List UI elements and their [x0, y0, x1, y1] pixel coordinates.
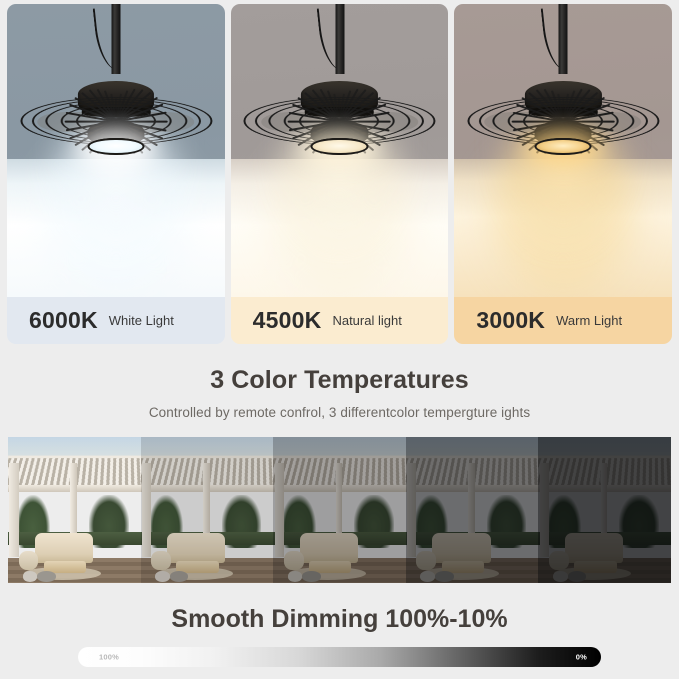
- dim-overlay: [538, 437, 671, 583]
- lit-floor: [454, 159, 672, 297]
- caged-fan-fixture: [467, 63, 659, 180]
- lit-floor: [231, 159, 449, 297]
- kelvin-value: 6000K: [29, 307, 98, 334]
- color-temperature-label-band-4500k: 4500K Natural light: [231, 297, 449, 344]
- light-name: Natural light: [332, 313, 401, 328]
- color-temperature-panel-row: 6000K White Light 4500K Natural light: [7, 4, 672, 344]
- dimming-filmstrip: [8, 437, 671, 583]
- dimming-level-cell: [406, 437, 539, 583]
- led-light-disc: [534, 138, 591, 156]
- caged-fan-fixture: [244, 63, 436, 180]
- fan-photo-6000k: [7, 4, 225, 297]
- dimming-label-min: 0%: [576, 653, 587, 662]
- dim-overlay: [141, 437, 274, 583]
- light-name: White Light: [109, 313, 174, 328]
- color-temperature-panel-4500k: 4500K Natural light: [231, 4, 449, 344]
- gradient-track: [78, 647, 601, 667]
- caged-fan-fixture: [20, 63, 212, 180]
- color-temperature-label-band-6000k: 6000K White Light: [7, 297, 225, 344]
- kelvin-value: 3000K: [476, 307, 545, 334]
- dimming-level-cell: [8, 437, 141, 583]
- dimming-level-cell: [273, 437, 406, 583]
- color-temperature-heading-block: 3 Color Temperatures Controlled by remot…: [0, 366, 679, 420]
- led-light-disc: [311, 138, 368, 156]
- kelvin-value: 4500K: [253, 307, 322, 334]
- dimming-level-cell: [538, 437, 671, 583]
- dimming-label-max: 100%: [99, 653, 119, 662]
- fan-photo-3000k: [454, 4, 672, 297]
- dim-overlay: [273, 437, 406, 583]
- fan-photo-4500k: [231, 4, 449, 297]
- section-title-smooth-dimming: Smooth Dimming 100%-10%: [0, 605, 679, 634]
- dimming-level-cell: [141, 437, 274, 583]
- section-subtitle-color-temperatures: Controlled by remote confrol, 3 differen…: [0, 405, 679, 420]
- dimming-gradient-bar: 100% 0%: [78, 647, 601, 667]
- light-name: Warm Light: [556, 313, 622, 328]
- color-temperature-panel-6000k: 6000K White Light: [7, 4, 225, 344]
- dimming-heading-block: Smooth Dimming 100%-10%: [0, 605, 679, 634]
- section-title-color-temperatures: 3 Color Temperatures: [0, 366, 679, 395]
- led-light-disc: [87, 138, 144, 156]
- color-temperature-label-band-3000k: 3000K Warm Light: [454, 297, 672, 344]
- dim-overlay: [406, 437, 539, 583]
- lit-floor: [7, 159, 225, 297]
- color-temperature-panel-3000k: 3000K Warm Light: [454, 4, 672, 344]
